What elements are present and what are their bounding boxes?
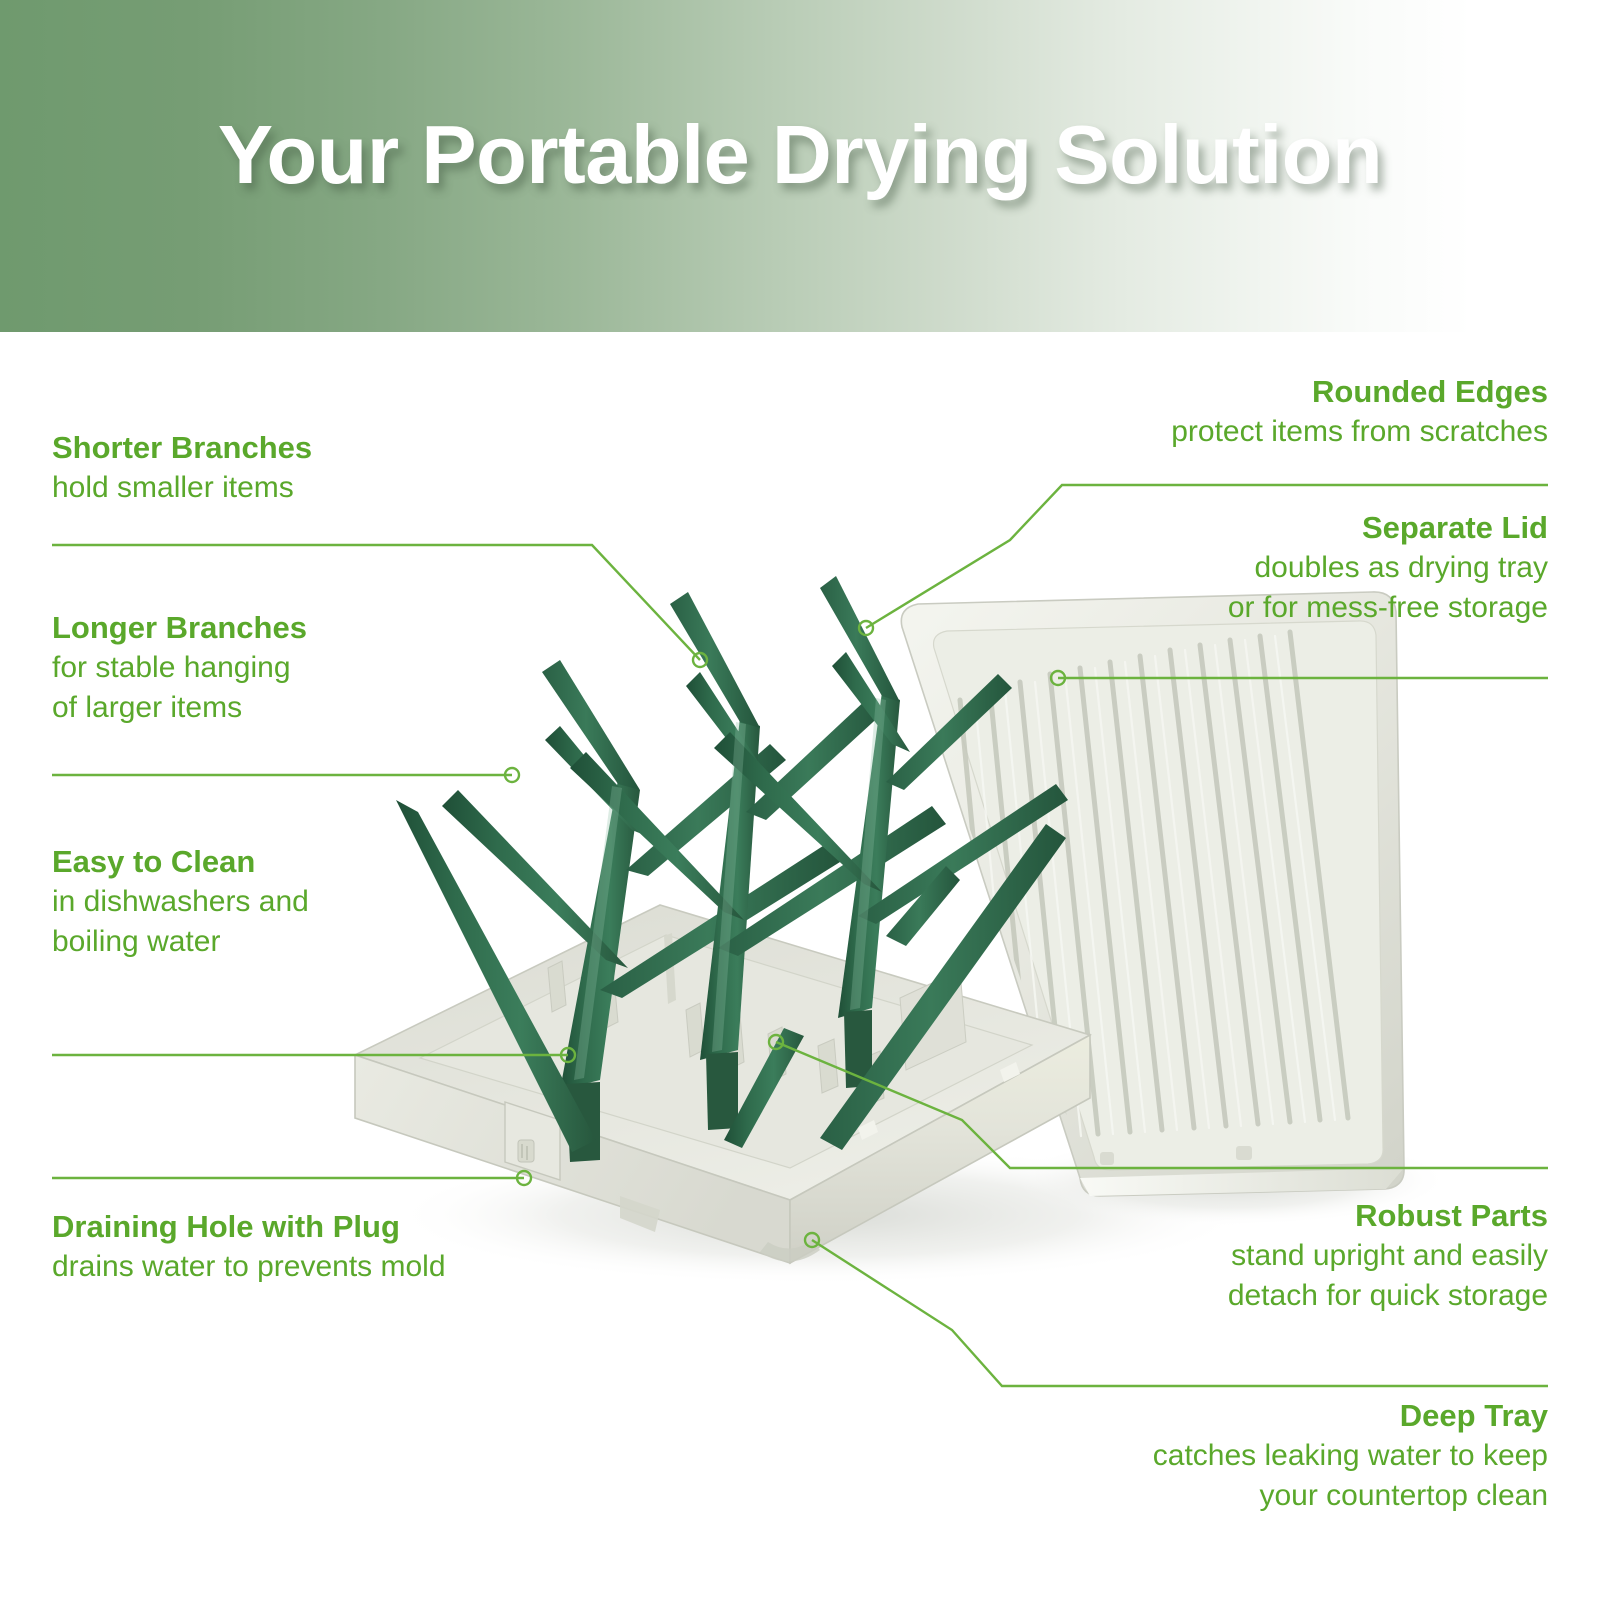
callout-title: Deep Tray — [1153, 1396, 1548, 1436]
callout-subline: hold smaller items — [52, 468, 312, 508]
callout-title: Easy to Clean — [52, 842, 309, 882]
leader-lines — [0, 0, 1600, 1600]
leader-easy-to-clean — [52, 1048, 575, 1062]
callout-subline: stand upright and easily — [1228, 1236, 1548, 1276]
callout-draining-hole: Draining Hole with Plug drains water to … — [52, 1207, 446, 1287]
callout-easy-to-clean: Easy to Clean in dishwashers and boiling… — [52, 842, 309, 962]
callout-subline: for stable hanging — [52, 648, 307, 688]
callout-subline: or for mess-free storage — [1228, 588, 1548, 628]
callout-robust-parts: Robust Parts stand upright and easily de… — [1228, 1196, 1548, 1316]
callout-title: Longer Branches — [52, 608, 307, 648]
callout-title: Draining Hole with Plug — [52, 1207, 446, 1247]
callout-longer-branches: Longer Branches for stable hanging of la… — [52, 608, 307, 728]
callout-title: Separate Lid — [1228, 508, 1548, 548]
infographic-root: Your Portable Drying Solution — [0, 0, 1600, 1600]
callout-title: Robust Parts — [1228, 1196, 1548, 1236]
callout-subline: protect items from scratches — [1171, 412, 1548, 452]
callout-subline: your countertop clean — [1153, 1476, 1548, 1516]
callout-subline: boiling water — [52, 922, 309, 962]
callout-subline: doubles as drying tray — [1228, 548, 1548, 588]
callout-title: Rounded Edges — [1171, 372, 1548, 412]
callout-subline: drains water to prevents mold — [52, 1247, 446, 1287]
callout-deep-tray: Deep Tray catches leaking water to keep … — [1153, 1396, 1548, 1516]
callout-rounded-edges: Rounded Edges protect items from scratch… — [1171, 372, 1548, 452]
callout-title: Shorter Branches — [52, 428, 312, 468]
callout-subline: catches leaking water to keep — [1153, 1436, 1548, 1476]
callout-subline: detach for quick storage — [1228, 1276, 1548, 1316]
callout-subline: in dishwashers and — [52, 882, 309, 922]
leader-robust-parts — [769, 1035, 1548, 1168]
leader-draining-hole — [52, 1171, 531, 1185]
callout-separate-lid: Separate Lid doubles as drying tray or f… — [1228, 508, 1548, 628]
leader-longer-branches — [52, 768, 519, 782]
callout-shorter-branches: Shorter Branches hold smaller items — [52, 428, 312, 508]
callout-subline: of larger items — [52, 688, 307, 728]
leader-separate-lid — [1051, 671, 1548, 685]
